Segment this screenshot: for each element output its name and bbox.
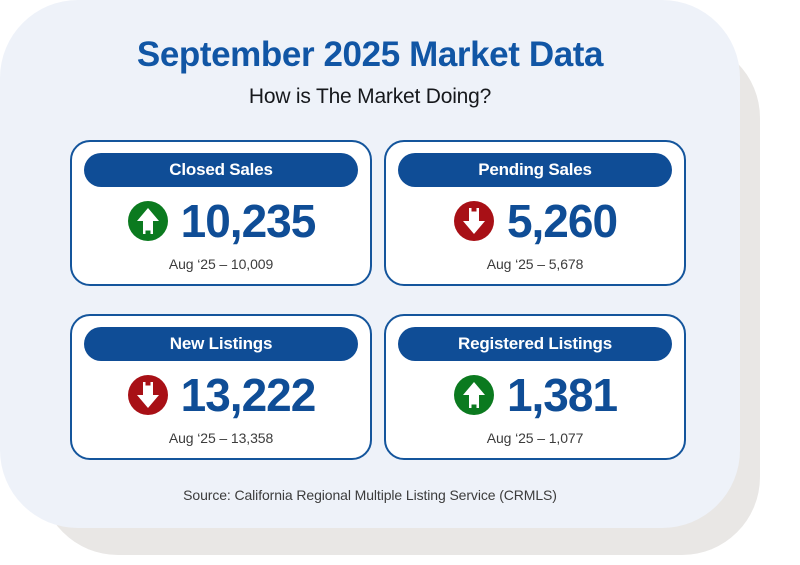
arrow-up-circle-icon <box>127 200 169 242</box>
metric-card-pending-sales: Pending Sales 5,260 Aug ‘25 – 5,678 <box>384 140 686 286</box>
arrow-down-circle-icon <box>453 200 495 242</box>
metric-card-grid: Closed Sales 10,235 Aug ‘25 – 10,009 Pen… <box>70 140 686 460</box>
card-value-row: 1,381 <box>398 372 672 418</box>
card-previous-value: Aug ‘25 – 1,077 <box>487 430 584 446</box>
metric-card-registered-listings: Registered Listings 1,381 Aug ‘25 – 1,07… <box>384 314 686 460</box>
card-value-row: 13,222 <box>84 372 358 418</box>
card-value-row: 10,235 <box>84 198 358 244</box>
card-label-pill: Closed Sales <box>84 153 358 187</box>
card-previous-value: Aug ‘25 – 10,009 <box>169 256 273 272</box>
arrow-down-circle-icon <box>127 374 169 416</box>
card-value: 10,235 <box>181 198 316 244</box>
card-value-row: 5,260 <box>398 198 672 244</box>
card-label-pill: Registered Listings <box>398 327 672 361</box>
card-previous-value: Aug ‘25 – 13,358 <box>169 430 273 446</box>
arrow-up-circle-icon <box>453 374 495 416</box>
card-previous-value: Aug ‘25 – 5,678 <box>487 256 584 272</box>
main-panel: September 2025 Market Data How is The Ma… <box>0 0 740 528</box>
infographic-stage: September 2025 Market Data How is The Ma… <box>0 0 800 565</box>
header: September 2025 Market Data How is The Ma… <box>0 0 740 109</box>
source-attribution: Source: California Regional Multiple Lis… <box>0 487 740 503</box>
card-value: 13,222 <box>181 372 316 418</box>
metric-card-new-listings: New Listings 13,222 Aug ‘25 – 13,358 <box>70 314 372 460</box>
page-title: September 2025 Market Data <box>0 0 740 75</box>
card-label-pill: New Listings <box>84 327 358 361</box>
card-value: 1,381 <box>507 372 617 418</box>
page-subtitle: How is The Market Doing? <box>0 75 740 109</box>
card-label-pill: Pending Sales <box>398 153 672 187</box>
card-value: 5,260 <box>507 198 617 244</box>
metric-card-closed-sales: Closed Sales 10,235 Aug ‘25 – 10,009 <box>70 140 372 286</box>
